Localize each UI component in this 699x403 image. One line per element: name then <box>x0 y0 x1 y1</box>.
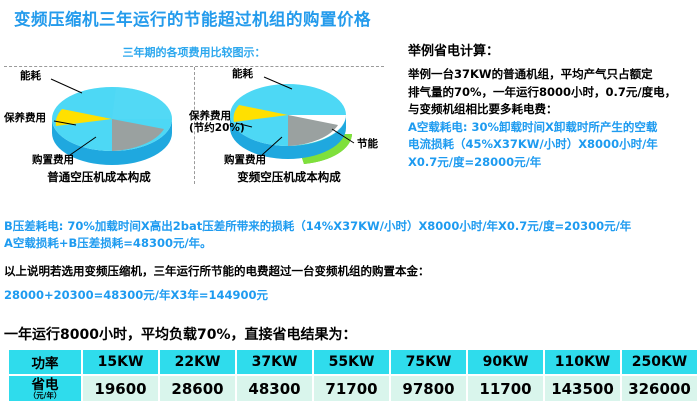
chart-subtitle: 三年期的各项费用比较图示： <box>0 44 388 60</box>
table-row-savings-label: 省电 （元/年） <box>9 376 81 401</box>
summary-line-conclusion: 以上说明若选用变频压缩机，三年运行所节能的电费超过一台变频机组的购置本金： <box>4 263 696 280</box>
table-value-55kw: 71700 <box>314 376 389 401</box>
table-header-110kw: 110KW <box>545 350 620 374</box>
table-row-savings-label-unit: （元/年） <box>9 391 81 400</box>
table-header-55kw: 55KW <box>314 350 389 374</box>
table-value-90kw: 11700 <box>468 376 543 401</box>
table-header-90kw: 90KW <box>468 350 543 374</box>
table-value-110kw: 143500 <box>545 376 620 401</box>
calc-paragraph-a-line-2: 电流损耗（45%X37KW/小时）X8000小时/年 <box>408 136 696 154</box>
table-header-22kw: 22KW <box>160 350 235 374</box>
calc-paragraph-a-line-3: X0.7元/度=28000元/年 <box>408 154 696 172</box>
summary-line-b-loss: B压差耗电: 70%加载时间X高出2bat压差所带来的损耗（14%X37KW/小… <box>4 218 696 235</box>
table-header-37kw: 37KW <box>237 350 312 374</box>
calc-paragraph-1-line-2: 排气量的70%，一年运行8000小时，0.7元/度电， <box>408 84 696 102</box>
pie-chart-standard: 能耗 保养费用 购置费用 普通空压机成本构成 <box>4 67 194 184</box>
table-row-savings: 省电 （元/年） 19600 28600 48300 71700 97800 1… <box>9 376 697 401</box>
table-header-power-label: 功率 <box>9 350 81 374</box>
pie-chart-inverter: 能耗 保养费用 (节约20%) 购置费用 节能 变频空压机成本构成 <box>194 67 384 184</box>
calc-paragraph-1-line-3: 与变频机组相比要多耗电费： <box>408 101 696 119</box>
table-value-75kw: 97800 <box>391 376 466 401</box>
calc-heading: 举例省电计算： <box>408 40 696 59</box>
page-title: 变频压缩机三年运行的节能超过机组的购置价格 <box>14 6 371 30</box>
summary-section: B压差耗电: 70%加载时间X高出2bat压差所带来的损耗（14%X37KW/小… <box>4 218 696 304</box>
poster-page: 变频压缩机三年运行的节能超过机组的购置价格 三年期的各项费用比较图示： <box>0 0 699 401</box>
chart-section: 三年期的各项费用比较图示： <box>0 40 388 185</box>
table-header-75kw: 75KW <box>391 350 466 374</box>
calc-paragraph-1-line-1: 举例一台37KW的普通机组，平均产气只占额定 <box>408 66 696 84</box>
chart-area: 能耗 保养费用 购置费用 普通空压机成本构成 <box>4 66 384 184</box>
savings-table: 功率 15KW 22KW 37KW 55KW 75KW 90KW 110KW 2… <box>7 348 699 403</box>
pie-caption-inverter: 变频空压机成本构成 <box>194 169 384 185</box>
table-header-15kw: 15KW <box>83 350 158 374</box>
example-calculation-section: 举例省电计算： 举例一台37KW的普通机组，平均产气只占额定 排气量的70%，一… <box>408 40 696 171</box>
table-row-power: 功率 15KW 22KW 37KW 55KW 75KW 90KW 110KW 2… <box>9 350 697 374</box>
result-heading: 一年运行8000小时，平均负载70%，直接省电结果为： <box>4 324 356 344</box>
pie-leader-lines-left <box>4 67 194 184</box>
table-value-22kw: 28600 <box>160 376 235 401</box>
summary-line-three-year-total: 28000+20300=48300元/年X3年=144900元 <box>4 287 696 304</box>
table-value-250kw: 326000 <box>622 376 697 401</box>
table-value-37kw: 48300 <box>237 376 312 401</box>
summary-line-total-loss: A空载损耗+B压差损耗=48300元/年。 <box>4 235 696 252</box>
table-header-250kw: 250KW <box>622 350 697 374</box>
pie-leader-lines-right <box>194 67 384 184</box>
pie-caption-standard: 普通空压机成本构成 <box>4 169 194 185</box>
table-value-15kw: 19600 <box>83 376 158 401</box>
calc-paragraph-a-line-1: A空载耗电: 30%卸载时间X卸载时所产生的空载 <box>408 119 696 137</box>
